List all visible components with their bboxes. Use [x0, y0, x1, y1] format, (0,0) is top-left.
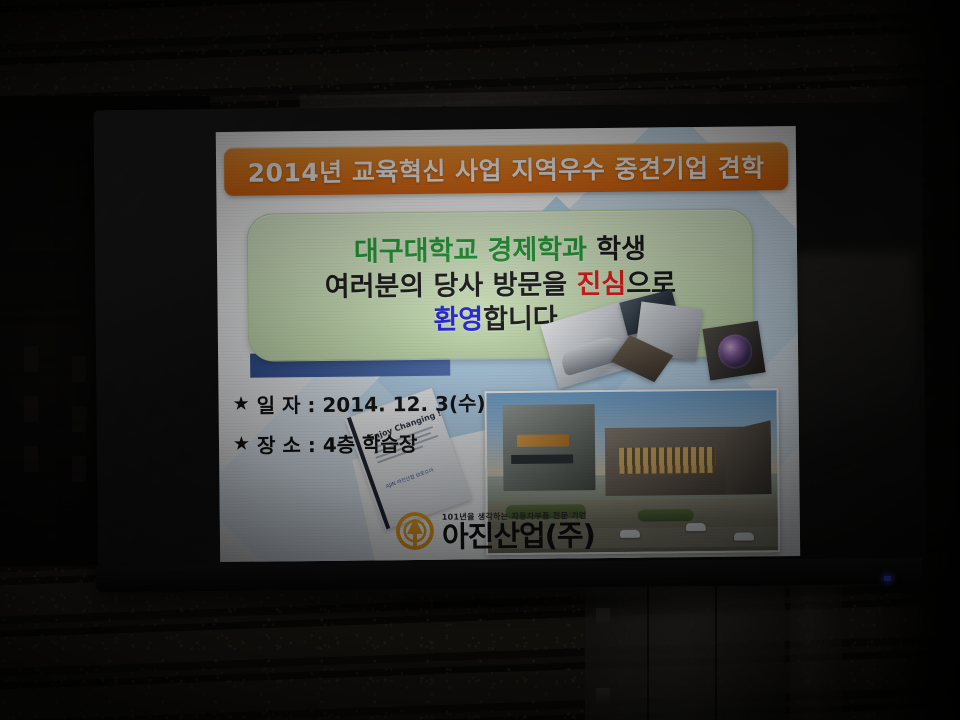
photo-vignette [0, 0, 960, 720]
photo-scene: 2014년 교육혁신 사업 지역우수 중견기업 견학 대구대학교 경제학과 학생… [0, 0, 960, 720]
